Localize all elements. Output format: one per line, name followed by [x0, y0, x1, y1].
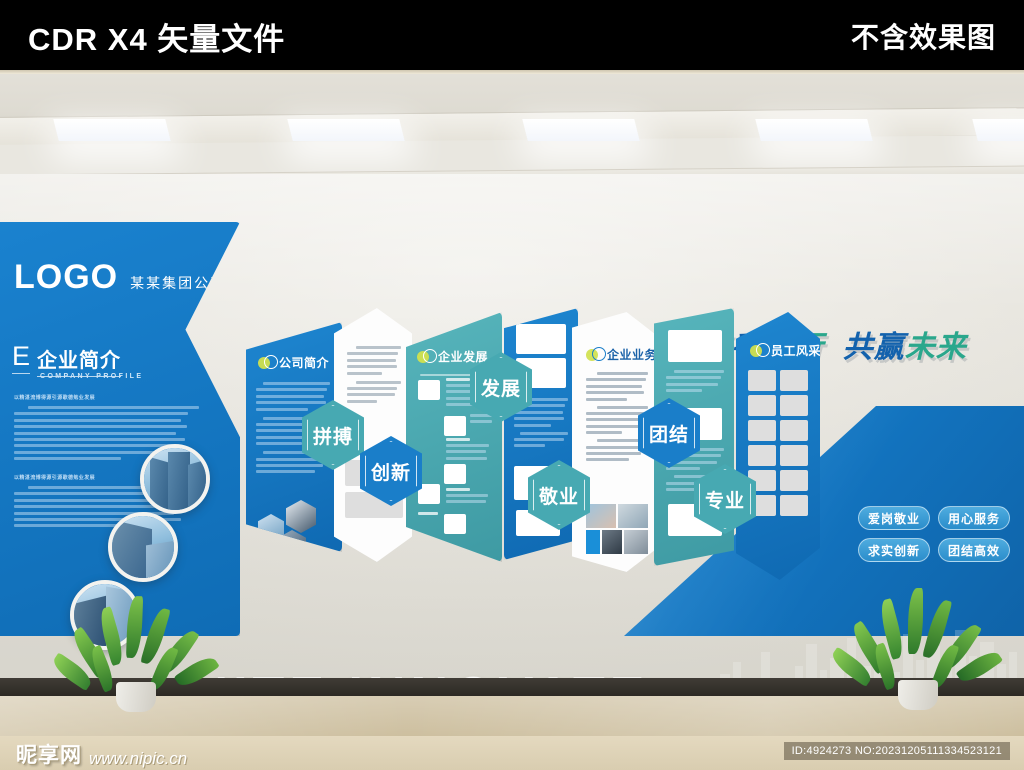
timeline-text — [418, 512, 440, 518]
section-title-en: COMPANY PROFILE — [40, 373, 143, 380]
plant-pot — [898, 680, 938, 710]
circle-photo-building-2 — [108, 512, 178, 582]
hex-badge-label: 发展 — [481, 374, 521, 401]
nipic-brand-cn: 昵享网 — [16, 739, 82, 769]
slogan-part-3: 共赢 — [843, 331, 905, 364]
panel-header-text: 员工风采 — [771, 342, 821, 359]
paragraph-heading-1: 以精湛流博得源引源歌德勉业发展 — [14, 394, 95, 401]
company-logo: LOGO 某某集团公司 — [14, 258, 226, 297]
hex-badge-label: 创新 — [371, 458, 411, 485]
panel-body-text — [347, 346, 401, 406]
twin-circles-icon — [417, 349, 434, 364]
image-id-tag: ID:4924273 NO:20231205111334523121 — [784, 742, 1010, 760]
ceiling-light — [522, 119, 639, 141]
ceiling-light — [755, 119, 872, 141]
paragraph-heading-2: 以精湛流博得源引源歌德勉业发展 — [14, 474, 95, 481]
twin-circles-icon — [750, 343, 767, 358]
circle-photo-building-1 — [140, 444, 210, 514]
section-letter: E — [12, 344, 30, 374]
photo-placeholder — [748, 395, 776, 416]
photo-placeholder — [780, 420, 808, 441]
twin-circles-icon — [586, 347, 603, 362]
photo-placeholder — [748, 370, 776, 391]
slogan-part-4: 未来 — [905, 331, 967, 364]
timeline-text — [446, 488, 492, 507]
photo-placeholder — [444, 464, 466, 484]
twin-circles-icon — [258, 355, 275, 370]
panel-enterprise-development: 企业发展 — [406, 312, 502, 562]
potted-plant-right — [858, 596, 974, 708]
panel-header-enterprise-development: 企业发展 — [417, 348, 488, 365]
photo-placeholder — [444, 514, 466, 534]
potted-plant-left — [78, 600, 194, 708]
hex-badge-label: 敬业 — [539, 482, 579, 509]
hex-photo — [286, 500, 316, 533]
photo-placeholder — [780, 495, 808, 516]
photo-placeholder — [780, 470, 808, 491]
logo-mark: LOGO — [14, 258, 118, 297]
photo-placeholder — [668, 330, 722, 362]
hex-badge-label: 拼搏 — [313, 422, 353, 449]
panel-header-text: 企业发展 — [438, 348, 488, 365]
panel-header-text: 公司简介 — [279, 354, 329, 371]
pill-tag-1[interactable]: 用心服务 — [938, 506, 1010, 530]
plant-pot — [116, 682, 156, 712]
hex-badge-label: 专业 — [705, 486, 745, 513]
photo-placeholder — [516, 324, 566, 354]
timeline-text — [446, 438, 492, 463]
banner-right-title: 不含效果图 — [851, 16, 996, 56]
photo-placeholder — [780, 445, 808, 466]
panel-staff-style: 员工风采 — [736, 312, 820, 580]
ceiling-light — [287, 119, 404, 141]
pill-tag-0[interactable]: 爱岗敬业 — [858, 506, 930, 530]
photo-placeholder — [444, 416, 466, 436]
pill-tag-2[interactable]: 求实创新 — [858, 538, 930, 562]
photo-collage — [586, 504, 648, 554]
panel-header-company-profile: 公司简介 — [258, 354, 329, 371]
photo-placeholder — [780, 370, 808, 391]
ceiling-light — [53, 119, 170, 141]
screenshot-root: CDR X4 矢量文件 不含效果图 — [0, 0, 1024, 770]
banner-left-title: CDR X4 矢量文件 — [28, 14, 285, 59]
photo-placeholder — [780, 395, 808, 416]
panel-header-enterprise-business: 企业业务 — [586, 346, 657, 363]
pill-tag-3[interactable]: 团结高效 — [938, 538, 1010, 562]
panel-header-text: 企业业务 — [607, 346, 657, 363]
nipic-brand-url: www.nipic.cn — [89, 749, 187, 769]
photo-placeholder — [418, 380, 440, 400]
top-banner: CDR X4 矢量文件 不含效果图 — [0, 0, 1024, 70]
panel-body-text — [666, 370, 724, 396]
photo-placeholder — [748, 420, 776, 441]
photo-placeholder — [748, 445, 776, 466]
panel-header-staff-style: 员工风采 — [750, 342, 821, 359]
hex-badge-label: 团结 — [649, 420, 689, 447]
staff-photo-grid — [748, 370, 808, 516]
nipic-watermark: 昵享网 www.nipic.cn — [16, 739, 187, 769]
ceiling-light — [972, 119, 1024, 141]
